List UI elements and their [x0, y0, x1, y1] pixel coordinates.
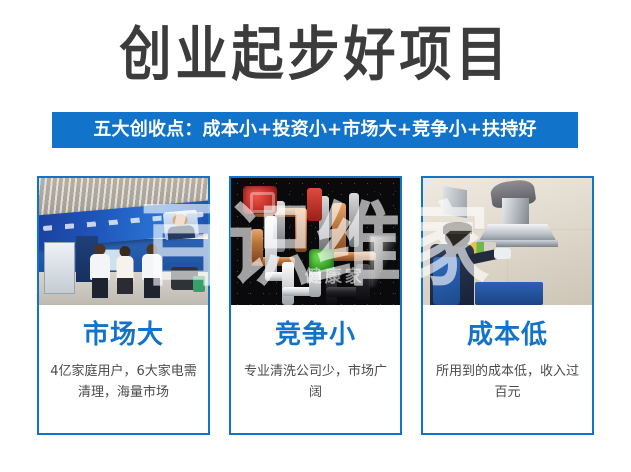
staff-person-2	[113, 246, 137, 300]
green-valve	[309, 249, 334, 272]
black-pipe-3	[356, 264, 370, 300]
clear-pipe-3	[349, 193, 359, 246]
worker-glove	[494, 248, 511, 259]
feature-card-description: 专业清洗公司少，市场广阔	[231, 361, 400, 403]
worker-vest	[433, 257, 460, 305]
copper-pipe-6	[251, 229, 263, 262]
feature-card-description: 4亿家庭用户，6大家电需清理，海量市场	[39, 361, 208, 403]
worker-cap	[443, 222, 472, 233]
selling-points-text: 五大创收点：成本小+投资小+市场大+竞争小+扶持好	[93, 121, 536, 139]
red-valve-small	[307, 188, 322, 221]
blue-collection-bin	[475, 282, 543, 305]
staff-person-1	[88, 244, 112, 300]
exhibition-booth-photo	[39, 178, 208, 305]
feature-card-cost[interactable]: 成本低 所用到的成本低，收入过百元	[421, 176, 594, 435]
white-pipe-3	[282, 262, 294, 305]
booth-scene	[39, 178, 208, 305]
hood-chimney	[502, 198, 529, 226]
booth-portrait	[163, 210, 199, 241]
feature-card-market[interactable]: 市场大 4亿家庭用户，6大家电需清理，海量市场	[37, 176, 210, 435]
copper-pipe-2	[295, 208, 307, 251]
kitchen-scene	[423, 178, 592, 305]
display-kiosk	[44, 242, 75, 295]
side-duct	[443, 186, 467, 218]
feature-card-title: 竞争小	[275, 321, 356, 349]
promo-poster: 创业起步好项目 五大创收点：成本小+投资小+市场大+竞争小+扶持好	[0, 0, 631, 472]
red-valve-large	[243, 186, 277, 214]
pipe-cleaning-photo	[231, 178, 400, 305]
staff-person-3	[140, 244, 164, 300]
page-title: 创业起步好项目	[0, 22, 631, 89]
copper-pipe-3	[332, 203, 346, 259]
water-spray	[370, 236, 397, 287]
range-hood-cleaning-photo	[423, 178, 592, 305]
feature-card-description: 所用到的成本低，收入过百元	[423, 361, 592, 403]
selling-points-banner: 五大创收点：成本小+投资小+市场大+竞争小+扶持好	[52, 112, 578, 148]
feature-card-competition[interactable]: 竞争小 专业清洗公司少，市场广阔	[229, 176, 402, 435]
green-bin	[193, 276, 205, 293]
hood-canopy	[479, 224, 557, 242]
feature-card-title: 市场大	[83, 321, 164, 349]
feature-card-title: 成本低	[467, 321, 548, 349]
pipe-scene	[231, 178, 400, 305]
feature-card-list: 市场大 4亿家庭用户，6大家电需清理，海量市场	[37, 176, 594, 435]
